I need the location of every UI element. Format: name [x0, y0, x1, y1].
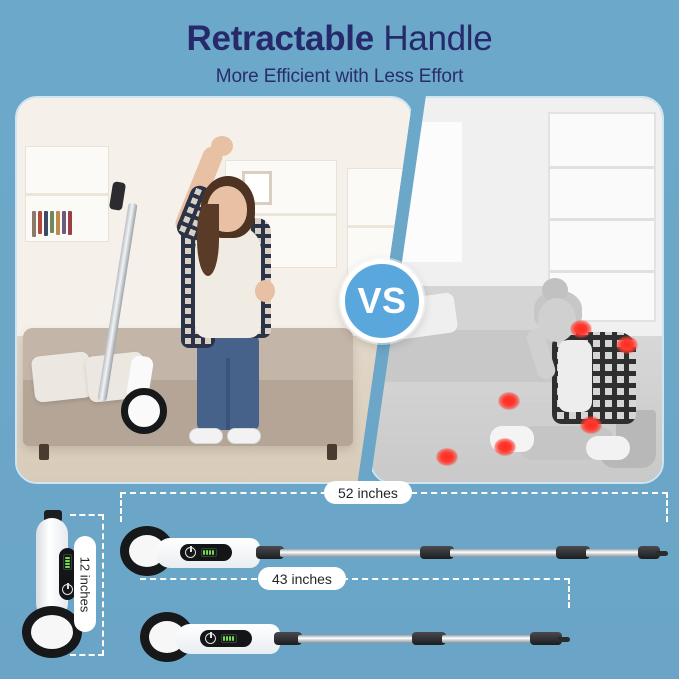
bookshelf-left [25, 146, 109, 242]
control-panel [180, 544, 232, 561]
jeans [197, 334, 259, 430]
hair-strand [197, 204, 219, 276]
scrubber-brush-head [121, 388, 167, 434]
page-subtitle: More Efficient with Less Effort [216, 66, 464, 88]
page-title: Retractable Handle [187, 18, 493, 60]
shelf-line [348, 225, 408, 228]
pole-collar [420, 546, 454, 559]
spec-extended-52in: 52 inches [120, 492, 668, 578]
pain-marker-elbow [498, 392, 520, 410]
fist [211, 136, 233, 156]
title-light-part: Handle [383, 19, 492, 58]
spec-extended-43in: 43 inches [140, 578, 668, 664]
title-bold-part: Retractable [187, 19, 374, 58]
pole-segment [450, 549, 562, 557]
happy-woman [167, 152, 287, 452]
sofa-leg [39, 444, 49, 460]
pole-tip [656, 551, 668, 556]
control-panel [200, 630, 252, 647]
dimension-specs: 12 inches 52 inches [0, 486, 679, 679]
shelf-line [26, 193, 108, 196]
pole-collar [556, 546, 590, 559]
hand-on-handle [255, 280, 275, 302]
infographic-canvas: Retractable Handle More Efficient with L… [0, 0, 679, 679]
pain-marker-ankle [436, 448, 458, 466]
vs-badge: VS [340, 259, 424, 343]
pole-segment [586, 549, 644, 557]
handle-body [36, 518, 68, 614]
cushion [31, 351, 93, 403]
dimension-label-52in: 52 inches [324, 481, 412, 504]
pole-collar [412, 632, 446, 645]
pain-marker-knee [494, 438, 516, 456]
extended-scrubber-52in [120, 518, 668, 578]
battery-level-icon [201, 548, 217, 557]
dimension-label-43in: 43 inches [258, 567, 346, 590]
comparison-panels [0, 96, 679, 486]
shoe [189, 428, 223, 444]
pain-marker-wrist [580, 416, 602, 434]
power-button-icon[interactable] [205, 633, 216, 644]
pain-marker-shoulder-right [616, 336, 638, 354]
pole-segment [442, 635, 536, 643]
pole-segment [298, 635, 420, 643]
pole-segment [280, 549, 428, 557]
battery-level-icon [221, 634, 237, 643]
shoe [227, 428, 261, 444]
pain-marker-shoulder-left [570, 320, 592, 338]
spec-handheld-12in: 12 inches [18, 510, 114, 660]
pole-tip [558, 637, 570, 642]
dimension-label-12in: 12 inches [74, 536, 96, 632]
header: Retractable Handle More Efficient with L… [0, 0, 679, 95]
sofa-leg [327, 444, 337, 460]
power-button-icon[interactable] [185, 547, 196, 558]
books [32, 211, 72, 237]
extended-scrubber-43in [140, 604, 610, 664]
